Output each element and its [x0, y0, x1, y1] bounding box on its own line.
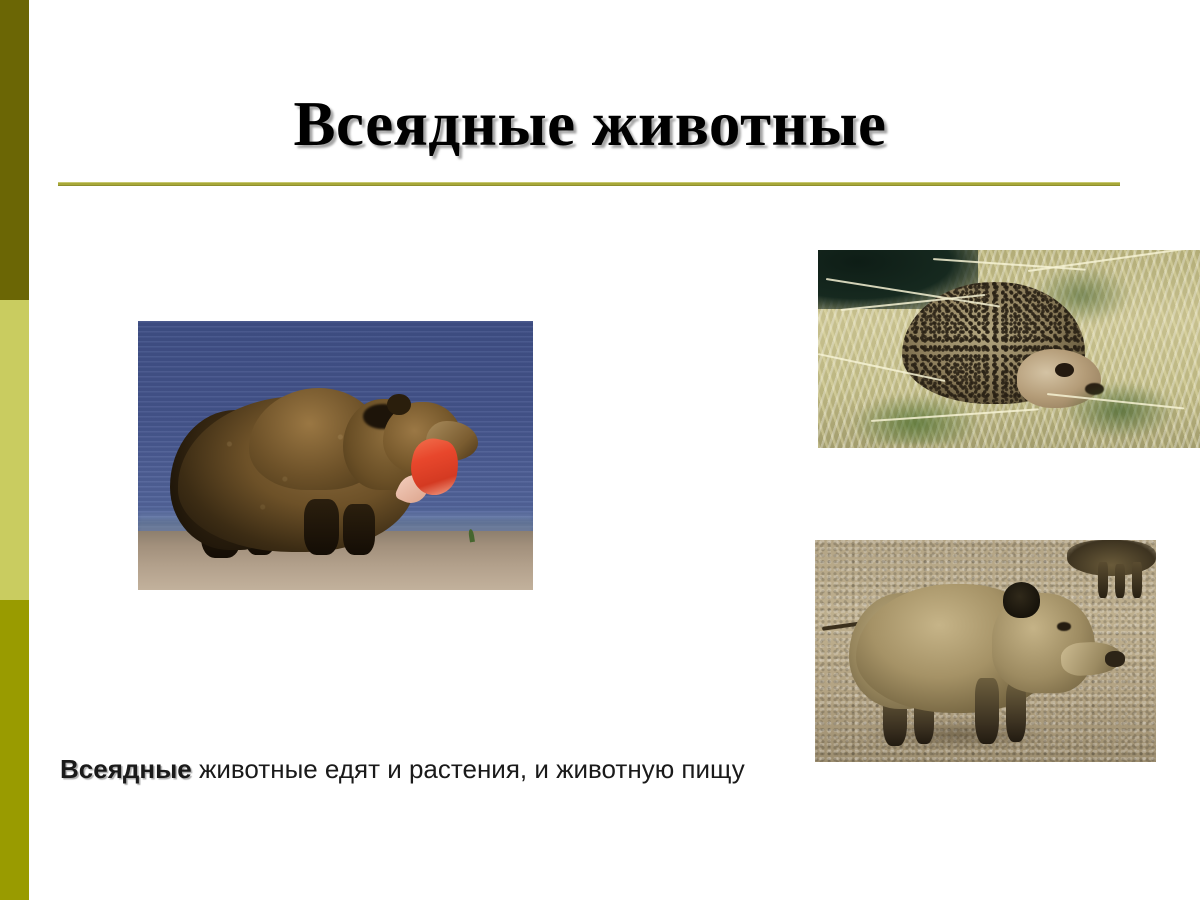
image-brown-bear-with-salmon	[138, 321, 533, 590]
boar-nose	[1105, 651, 1125, 667]
hedgehog-green-grass-patch	[1063, 381, 1178, 440]
sidebar-band-khaki	[0, 300, 29, 600]
boar-ear	[1003, 582, 1041, 618]
boar-scene	[815, 540, 1156, 762]
background-boar-leg	[1098, 562, 1108, 598]
image-hedgehog-in-grass	[818, 250, 1200, 448]
boar-front-leg	[975, 678, 999, 745]
sidebar-band-olive	[0, 600, 29, 900]
slide-root: Всеядные животные	[0, 0, 1200, 900]
background-boar-body	[1067, 540, 1156, 576]
bear-scene	[138, 321, 533, 590]
boar-eye	[1057, 622, 1071, 631]
image-wild-boar	[815, 540, 1156, 762]
bear-fur-texture	[185, 402, 406, 542]
sidebar-decoration	[0, 0, 29, 900]
background-boar-leg	[1132, 562, 1142, 598]
hedgehog-eye	[1055, 363, 1074, 377]
body-paragraph: Всеядные животные едят и растения, и жив…	[60, 752, 760, 786]
body-rest-text: животные едят и растения, и животную пищ…	[192, 754, 745, 784]
title-divider-rule	[58, 182, 1120, 186]
hedgehog-scene	[818, 250, 1200, 448]
background-boar-leg	[1115, 564, 1125, 597]
sidebar-band-dark-olive	[0, 0, 29, 300]
body-lead-term: Всеядные	[60, 754, 192, 784]
bear-ear	[387, 394, 411, 416]
slide-title: Всеядные животные	[60, 88, 1120, 160]
